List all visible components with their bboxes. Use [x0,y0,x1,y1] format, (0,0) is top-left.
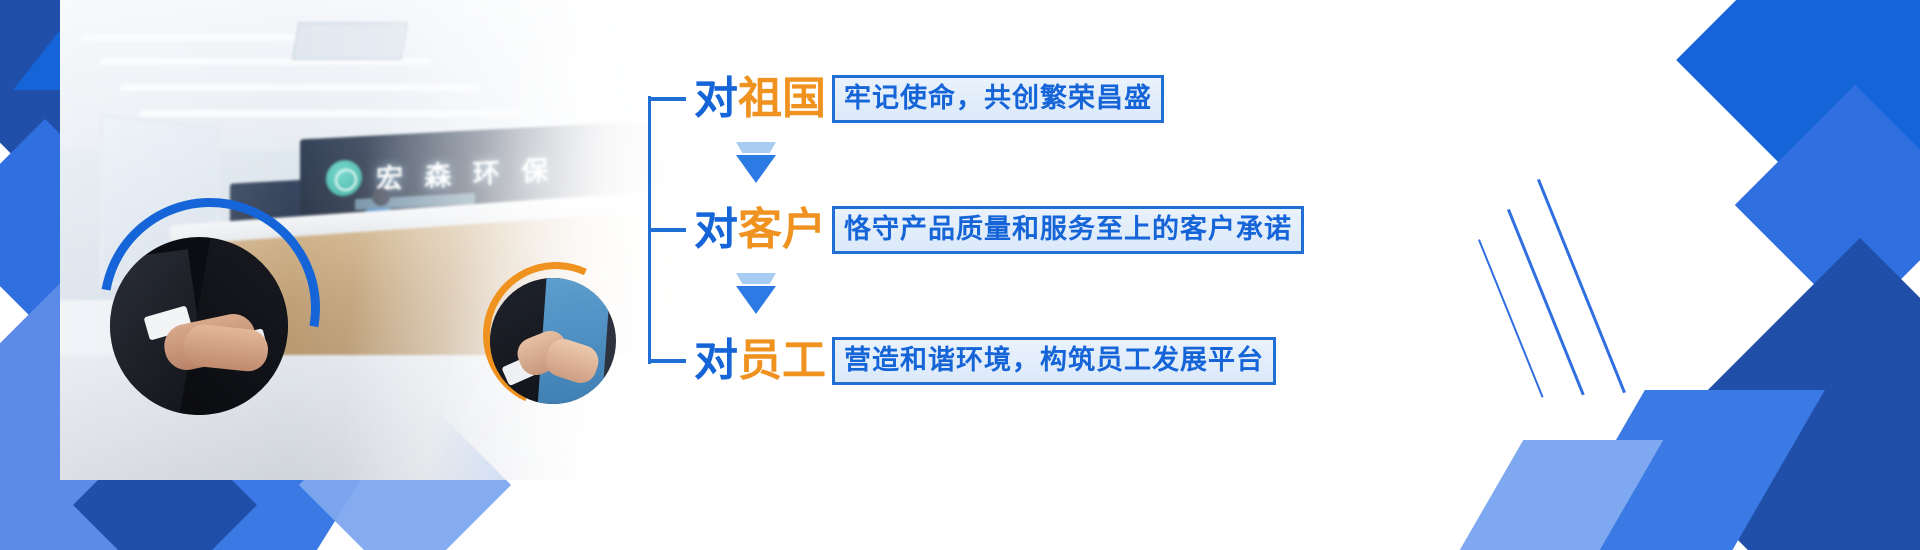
arrow-cap [736,273,776,284]
arrow-tip [736,155,776,183]
company-commitment-banner: 宏 森 环 保 [0,0,1920,550]
heading-target: 员工 [738,335,826,386]
figure-body [360,208,400,250]
arrow-tip [736,286,776,314]
handshake-photo [110,237,288,415]
commitment-tagline-country: 牢记使命，共创繁荣昌盛 [832,75,1164,123]
heading-prefix: 对 [694,204,738,255]
down-arrow-icon [736,142,776,183]
decor-line-right-2 [1507,209,1585,396]
receptionist-figure [360,188,402,250]
row-connector-stub [648,359,686,363]
figure-head [372,188,390,206]
company-signboard: 宏 森 环 保 [300,121,660,222]
gesture-scene [490,278,616,404]
commitment-heading-customer: 对客户 [694,208,826,252]
commitment-row-country: 对祖国 牢记使命，共创繁荣昌盛 [648,72,1164,126]
commitment-list: 对祖国 牢记使命，共创繁荣昌盛 对客户 恪守产品质量和服务至上的客户承诺 对员工… [648,72,1348,402]
handshake-scene [110,237,288,415]
commitment-row-employee: 对员工 营造和谐环境，构筑员工发展平台 [648,334,1276,388]
arrow-cap [736,142,776,153]
commitment-tagline-customer: 恪守产品质量和服务至上的客户承诺 [832,206,1304,254]
heading-target: 客户 [738,204,826,255]
heading-target: 祖国 [738,73,826,124]
reception-backdrop [230,156,720,253]
gesturing-hands-photo [490,278,616,404]
commitment-row-customer: 对客户 恪守产品质量和服务至上的客户承诺 [648,203,1304,257]
signboard-subtitle-bar [355,193,475,210]
ceiling-light-strip [99,58,432,65]
heading-prefix: 对 [694,335,738,386]
commitment-heading-country: 对祖国 [694,77,826,121]
row-connector-stub [648,97,686,101]
ceiling [60,0,720,160]
company-name-text: 宏 森 环 保 [376,148,554,196]
ceiling-vent [292,22,409,60]
ceiling-light-strip [139,110,521,117]
commitment-heading-employee: 对员工 [694,339,826,383]
commitment-tagline-employee: 营造和谐环境，构筑员工发展平台 [832,337,1276,385]
row-connector-stub [648,228,686,232]
down-arrow-icon [736,273,776,314]
ceiling-light-strip [79,34,382,41]
decor-line-right-1 [1537,179,1626,393]
heading-prefix: 对 [694,73,738,124]
decor-line-right-3 [1478,239,1544,397]
globe-leaf-logo-icon [326,159,362,197]
ceiling-light-strip [119,84,481,91]
